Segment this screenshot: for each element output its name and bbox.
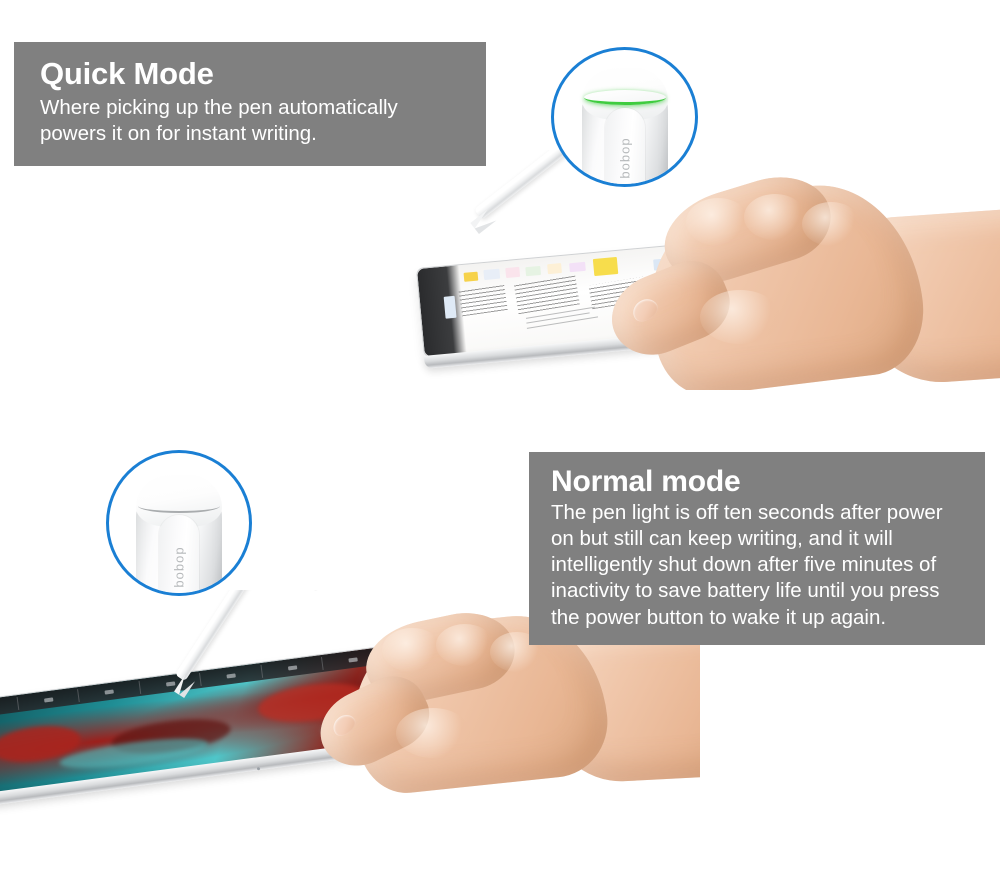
pen-brand-label: bobop: [617, 137, 632, 178]
hand-holding-stylus-top: [400, 150, 1000, 390]
quick-mode-title: Quick Mode: [40, 56, 460, 93]
product-feature-image: bobop bobop Quick Mode Where picking up …: [0, 0, 1000, 874]
callout-circle-led-off: bobop: [106, 450, 252, 596]
quick-mode-caption-banner: Quick Mode Where picking up the pen auto…: [14, 42, 486, 166]
normal-mode-description: The pen light is off ten seconds after p…: [551, 500, 963, 630]
pen-power-button[interactable]: bobop: [159, 515, 199, 593]
pen-power-button[interactable]: bobop: [605, 108, 645, 184]
pen-brand-label: bobop: [172, 546, 187, 587]
callout-circle-led-on: bobop: [551, 47, 698, 187]
quick-mode-description: Where picking up the pen automatically p…: [40, 95, 460, 148]
led-indicator-ring-off: [138, 499, 220, 513]
quick-mode-photo-scene: [400, 150, 1000, 390]
led-indicator-ring-on: [584, 90, 666, 105]
normal-mode-caption-banner: Normal mode The pen light is off ten sec…: [529, 452, 985, 645]
normal-mode-title: Normal mode: [551, 464, 963, 499]
